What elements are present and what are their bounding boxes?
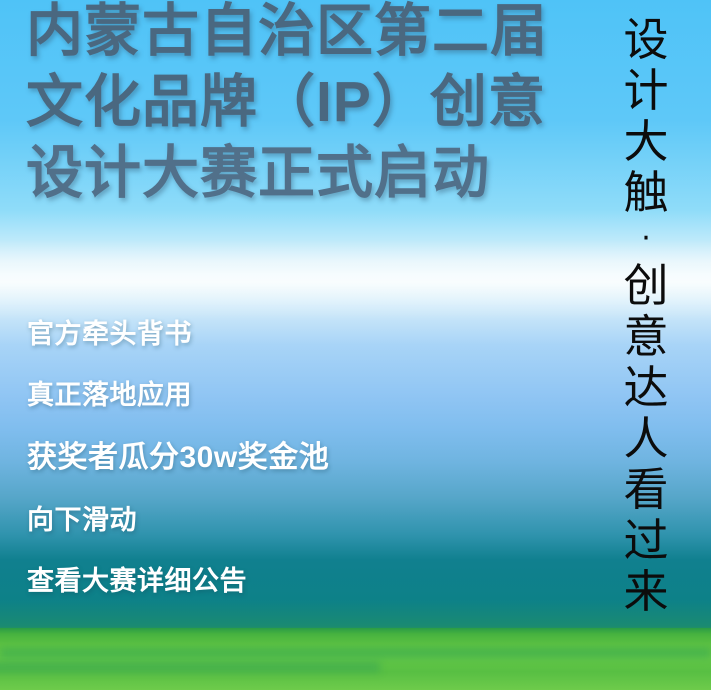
grass-streak bbox=[0, 648, 711, 658]
list-item: 真正落地应用 bbox=[27, 379, 572, 412]
grassland-strip bbox=[0, 628, 711, 690]
vertical-char: 人 bbox=[623, 413, 668, 464]
vertical-char: 过 bbox=[623, 515, 668, 566]
vertical-char: 来 bbox=[623, 566, 668, 617]
vertical-char: 看 bbox=[623, 464, 668, 515]
title-line-2: 文化品牌（IP）创意 bbox=[26, 67, 586, 138]
highlight-list: 官方牵头背书 真正落地应用 获奖者瓜分30w奖金池 向下滑动 查看大赛详细公告 bbox=[27, 318, 572, 626]
poster-title: 内蒙古自治区第二届 文化品牌（IP）创意 设计大赛正式启动 bbox=[26, 0, 586, 209]
list-item: 获奖者瓜分30w奖金池 bbox=[27, 440, 572, 476]
vertical-char: 计 bbox=[623, 65, 668, 116]
vertical-tagline: 设 计 大 触 · 创 意 达 人 看 过 来 bbox=[618, 14, 674, 674]
vertical-char: 大 bbox=[623, 116, 668, 167]
title-line-3: 设计大赛正式启动 bbox=[26, 138, 586, 209]
vertical-char-separator: · bbox=[641, 218, 651, 260]
vertical-char: 意 bbox=[623, 311, 668, 362]
promo-poster: 内蒙古自治区第二届 文化品牌（IP）创意 设计大赛正式启动 官方牵头背书 真正落… bbox=[0, 0, 711, 690]
vertical-char: 达 bbox=[623, 362, 668, 413]
list-item: 向下滑动 bbox=[27, 504, 572, 537]
list-item-announcement-link[interactable]: 查看大赛详细公告 bbox=[27, 565, 572, 598]
vertical-char: 设 bbox=[623, 14, 668, 65]
vertical-char: 触 bbox=[623, 167, 668, 218]
grass-streak bbox=[0, 662, 380, 672]
title-line-1: 内蒙古自治区第二届 bbox=[26, 0, 586, 67]
vertical-char: 创 bbox=[623, 260, 668, 311]
list-item: 官方牵头背书 bbox=[27, 318, 572, 351]
